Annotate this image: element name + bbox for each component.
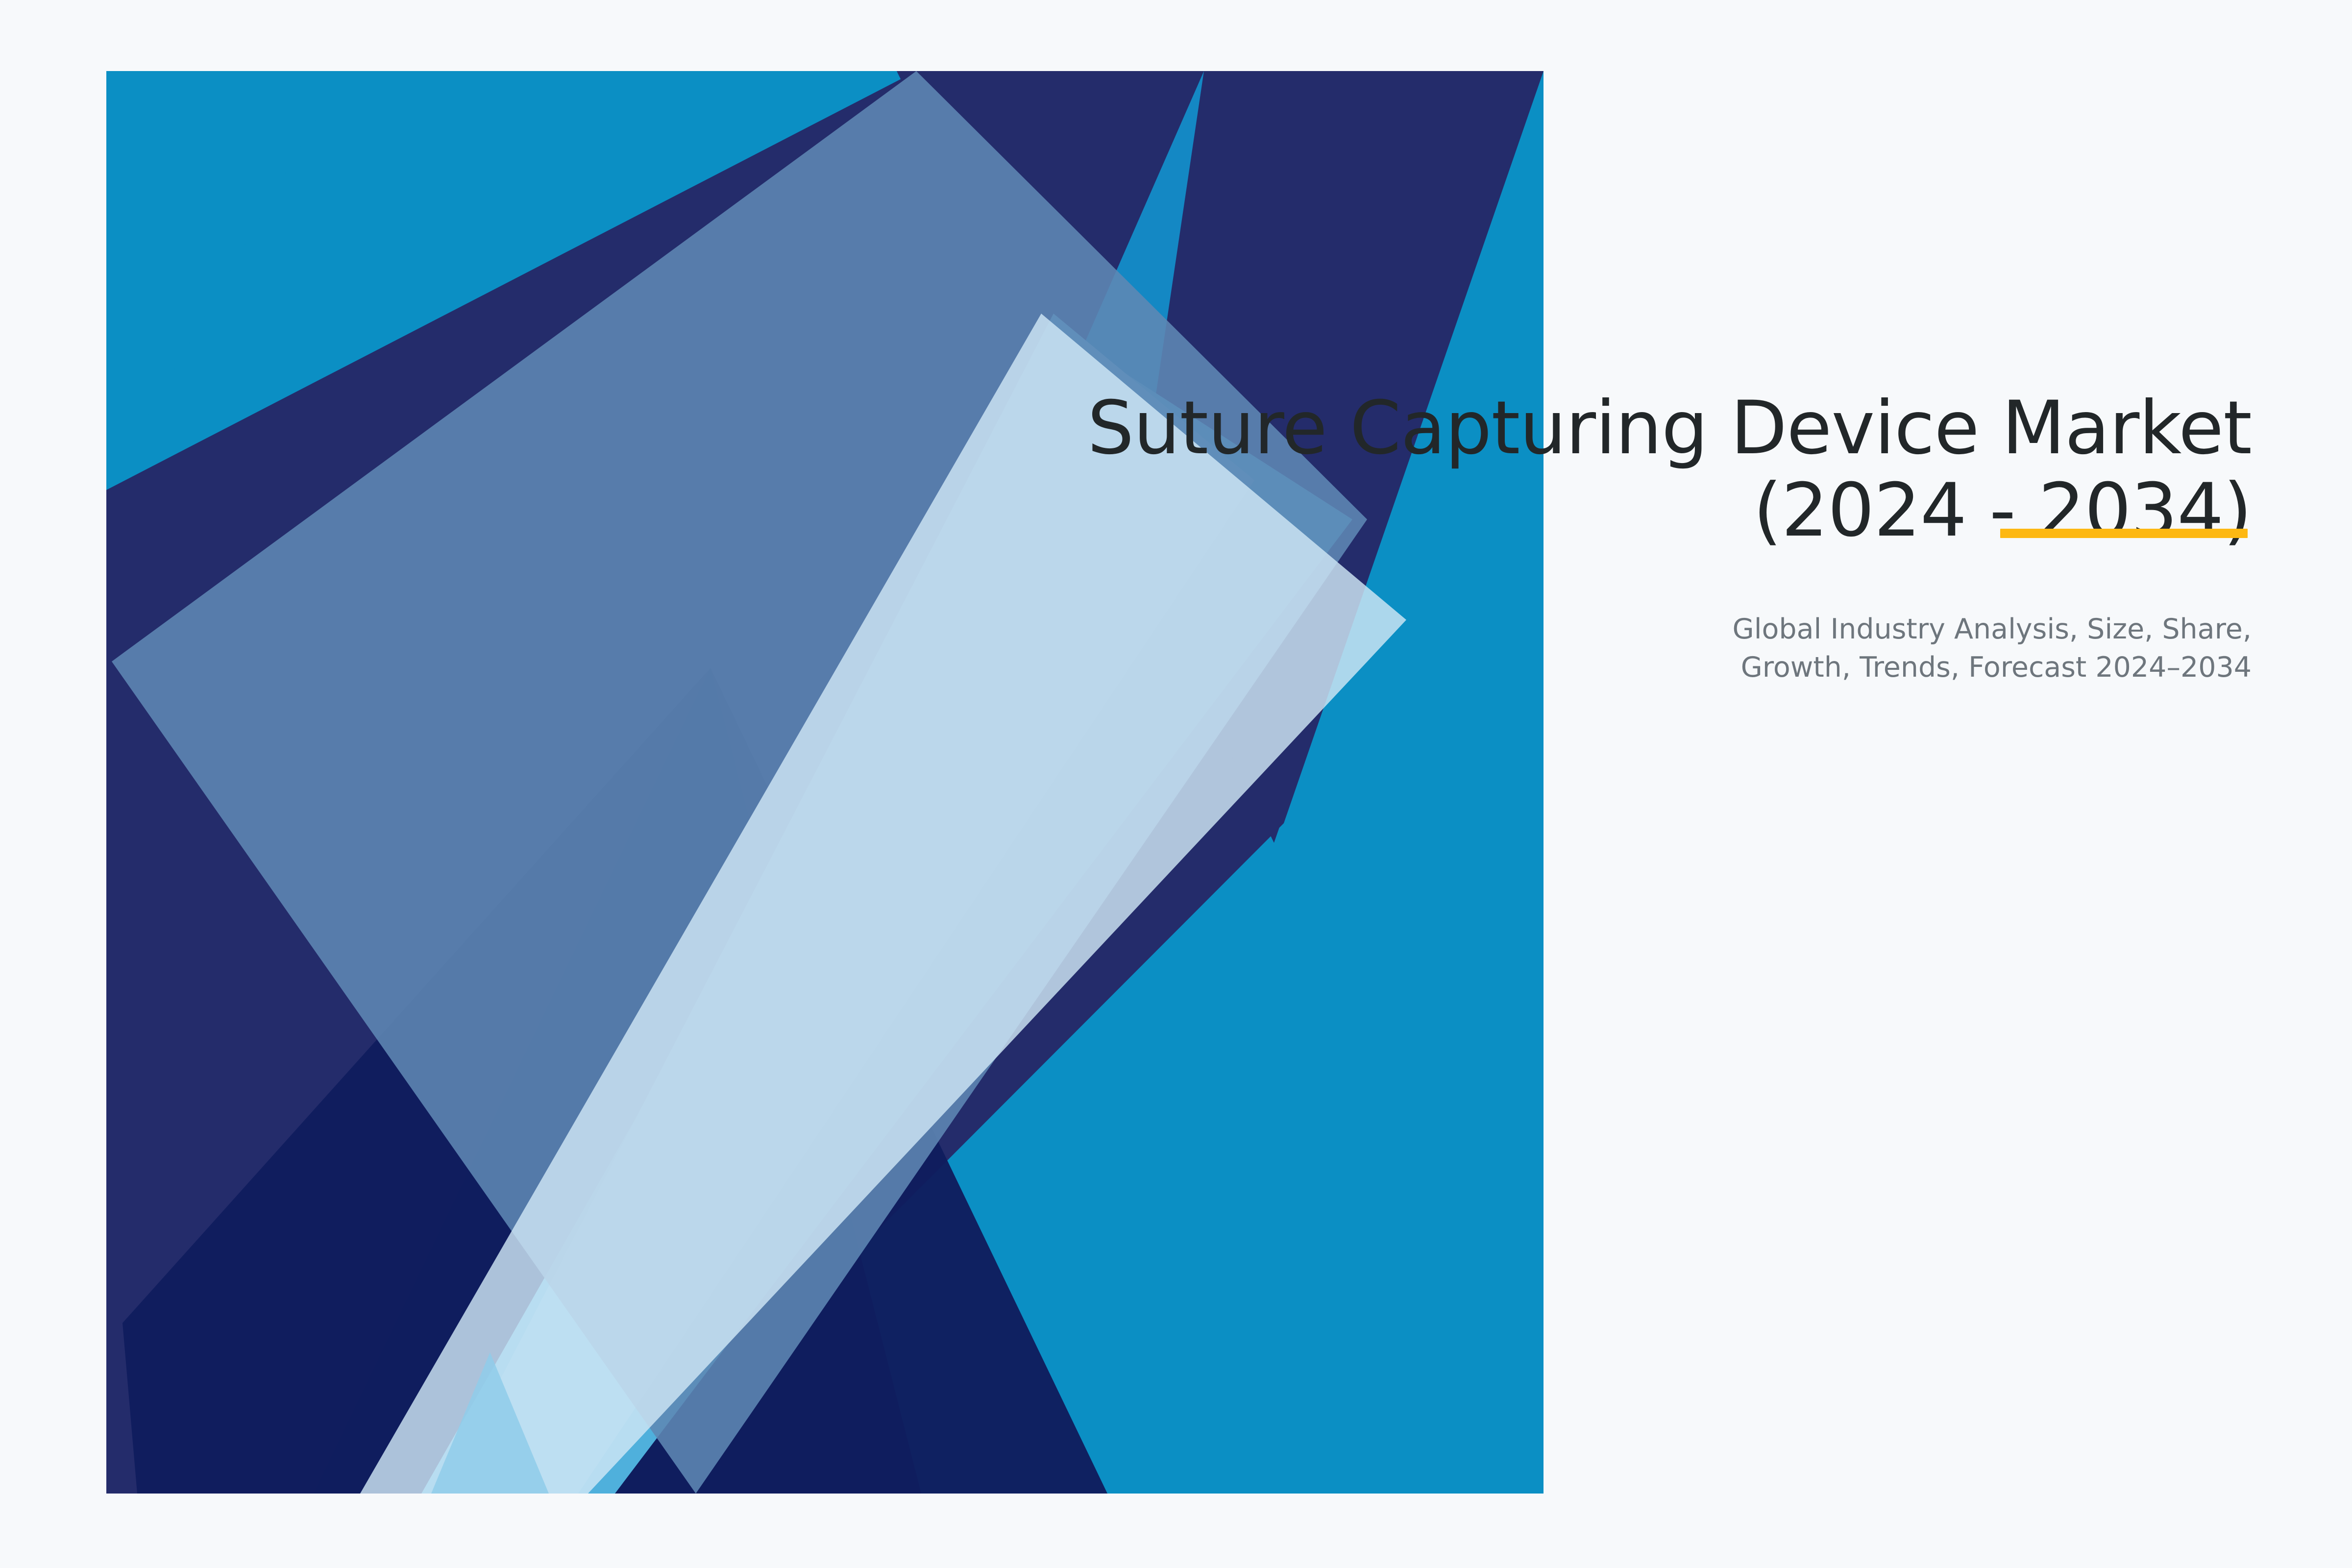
shape-deep-navy-lower [122,668,1107,1494]
page-title: Suture Capturing Device Market (2024 - 2… [978,387,2252,552]
shape-pale-bottom-notch [431,1352,549,1494]
shape-azure-base [106,71,1543,1494]
shape-steel-blue-overlay [112,71,1367,1494]
accent-underline [2000,529,2248,538]
subtitle-line-1: Global Industry Analysis, Size, Share, [978,611,2252,649]
shape-indigo-wedge [106,71,1543,1494]
title-line-years: (2024 - 2034) [978,469,2252,552]
page-subtitle: Global Industry Analysis, Size, Share, G… [978,611,2252,686]
cover-text-block: Suture Capturing Device Market (2024 - 2… [978,387,2252,686]
title-line-primary: Suture Capturing Device Market [978,387,2252,469]
subtitle-line-2: Growth, Trends, Forecast 2024–2034 [978,649,2252,687]
cover-artwork [0,0,2352,1568]
shape-azure-left-strip [106,71,343,490]
shape-deep-navy-spike [314,668,921,1494]
cover-page: Suture Capturing Device Market (2024 - 2… [0,0,2352,1568]
